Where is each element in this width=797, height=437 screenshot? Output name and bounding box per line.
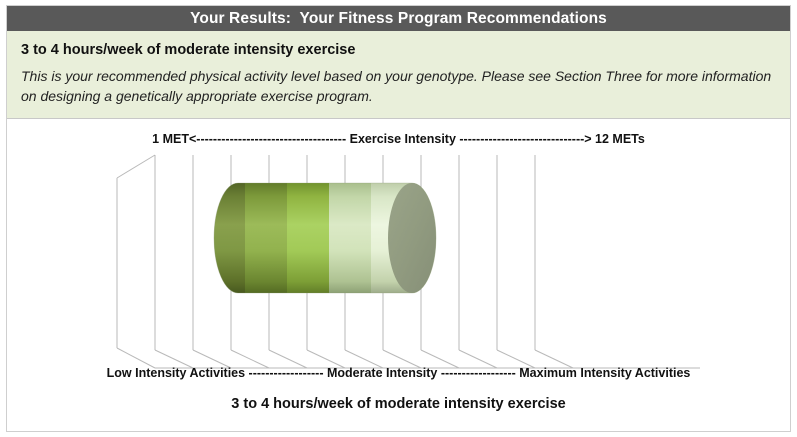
recommendation-panel: 3 to 4 hours/week of moderate intensity … bbox=[7, 31, 790, 119]
exercise-intensity-chart: 1 MET<----------------------------------… bbox=[7, 120, 790, 431]
recommendation-headline: 3 to 4 hours/week of moderate intensity … bbox=[21, 42, 776, 59]
intensity-cylinder-bar bbox=[190, 180, 436, 298]
recommendation-body-text: This is your recommended physical activi… bbox=[21, 66, 776, 107]
chart-footer-caption: 3 to 4 hours/week of moderate intensity … bbox=[7, 396, 790, 412]
results-header-bar: Your Results: Your Fitness Program Recom… bbox=[7, 6, 790, 31]
intensity-axis-label: Low Intensity Activities ---------------… bbox=[7, 366, 790, 380]
results-page: Your Results: Your Fitness Program Recom… bbox=[0, 0, 797, 437]
chart-plot-area bbox=[7, 150, 790, 370]
met-scale-label: 1 MET<----------------------------------… bbox=[7, 132, 790, 146]
page-title: Your Results: Your Fitness Program Recom… bbox=[190, 10, 607, 28]
cylinder-bar-3d-graphic bbox=[7, 150, 790, 370]
